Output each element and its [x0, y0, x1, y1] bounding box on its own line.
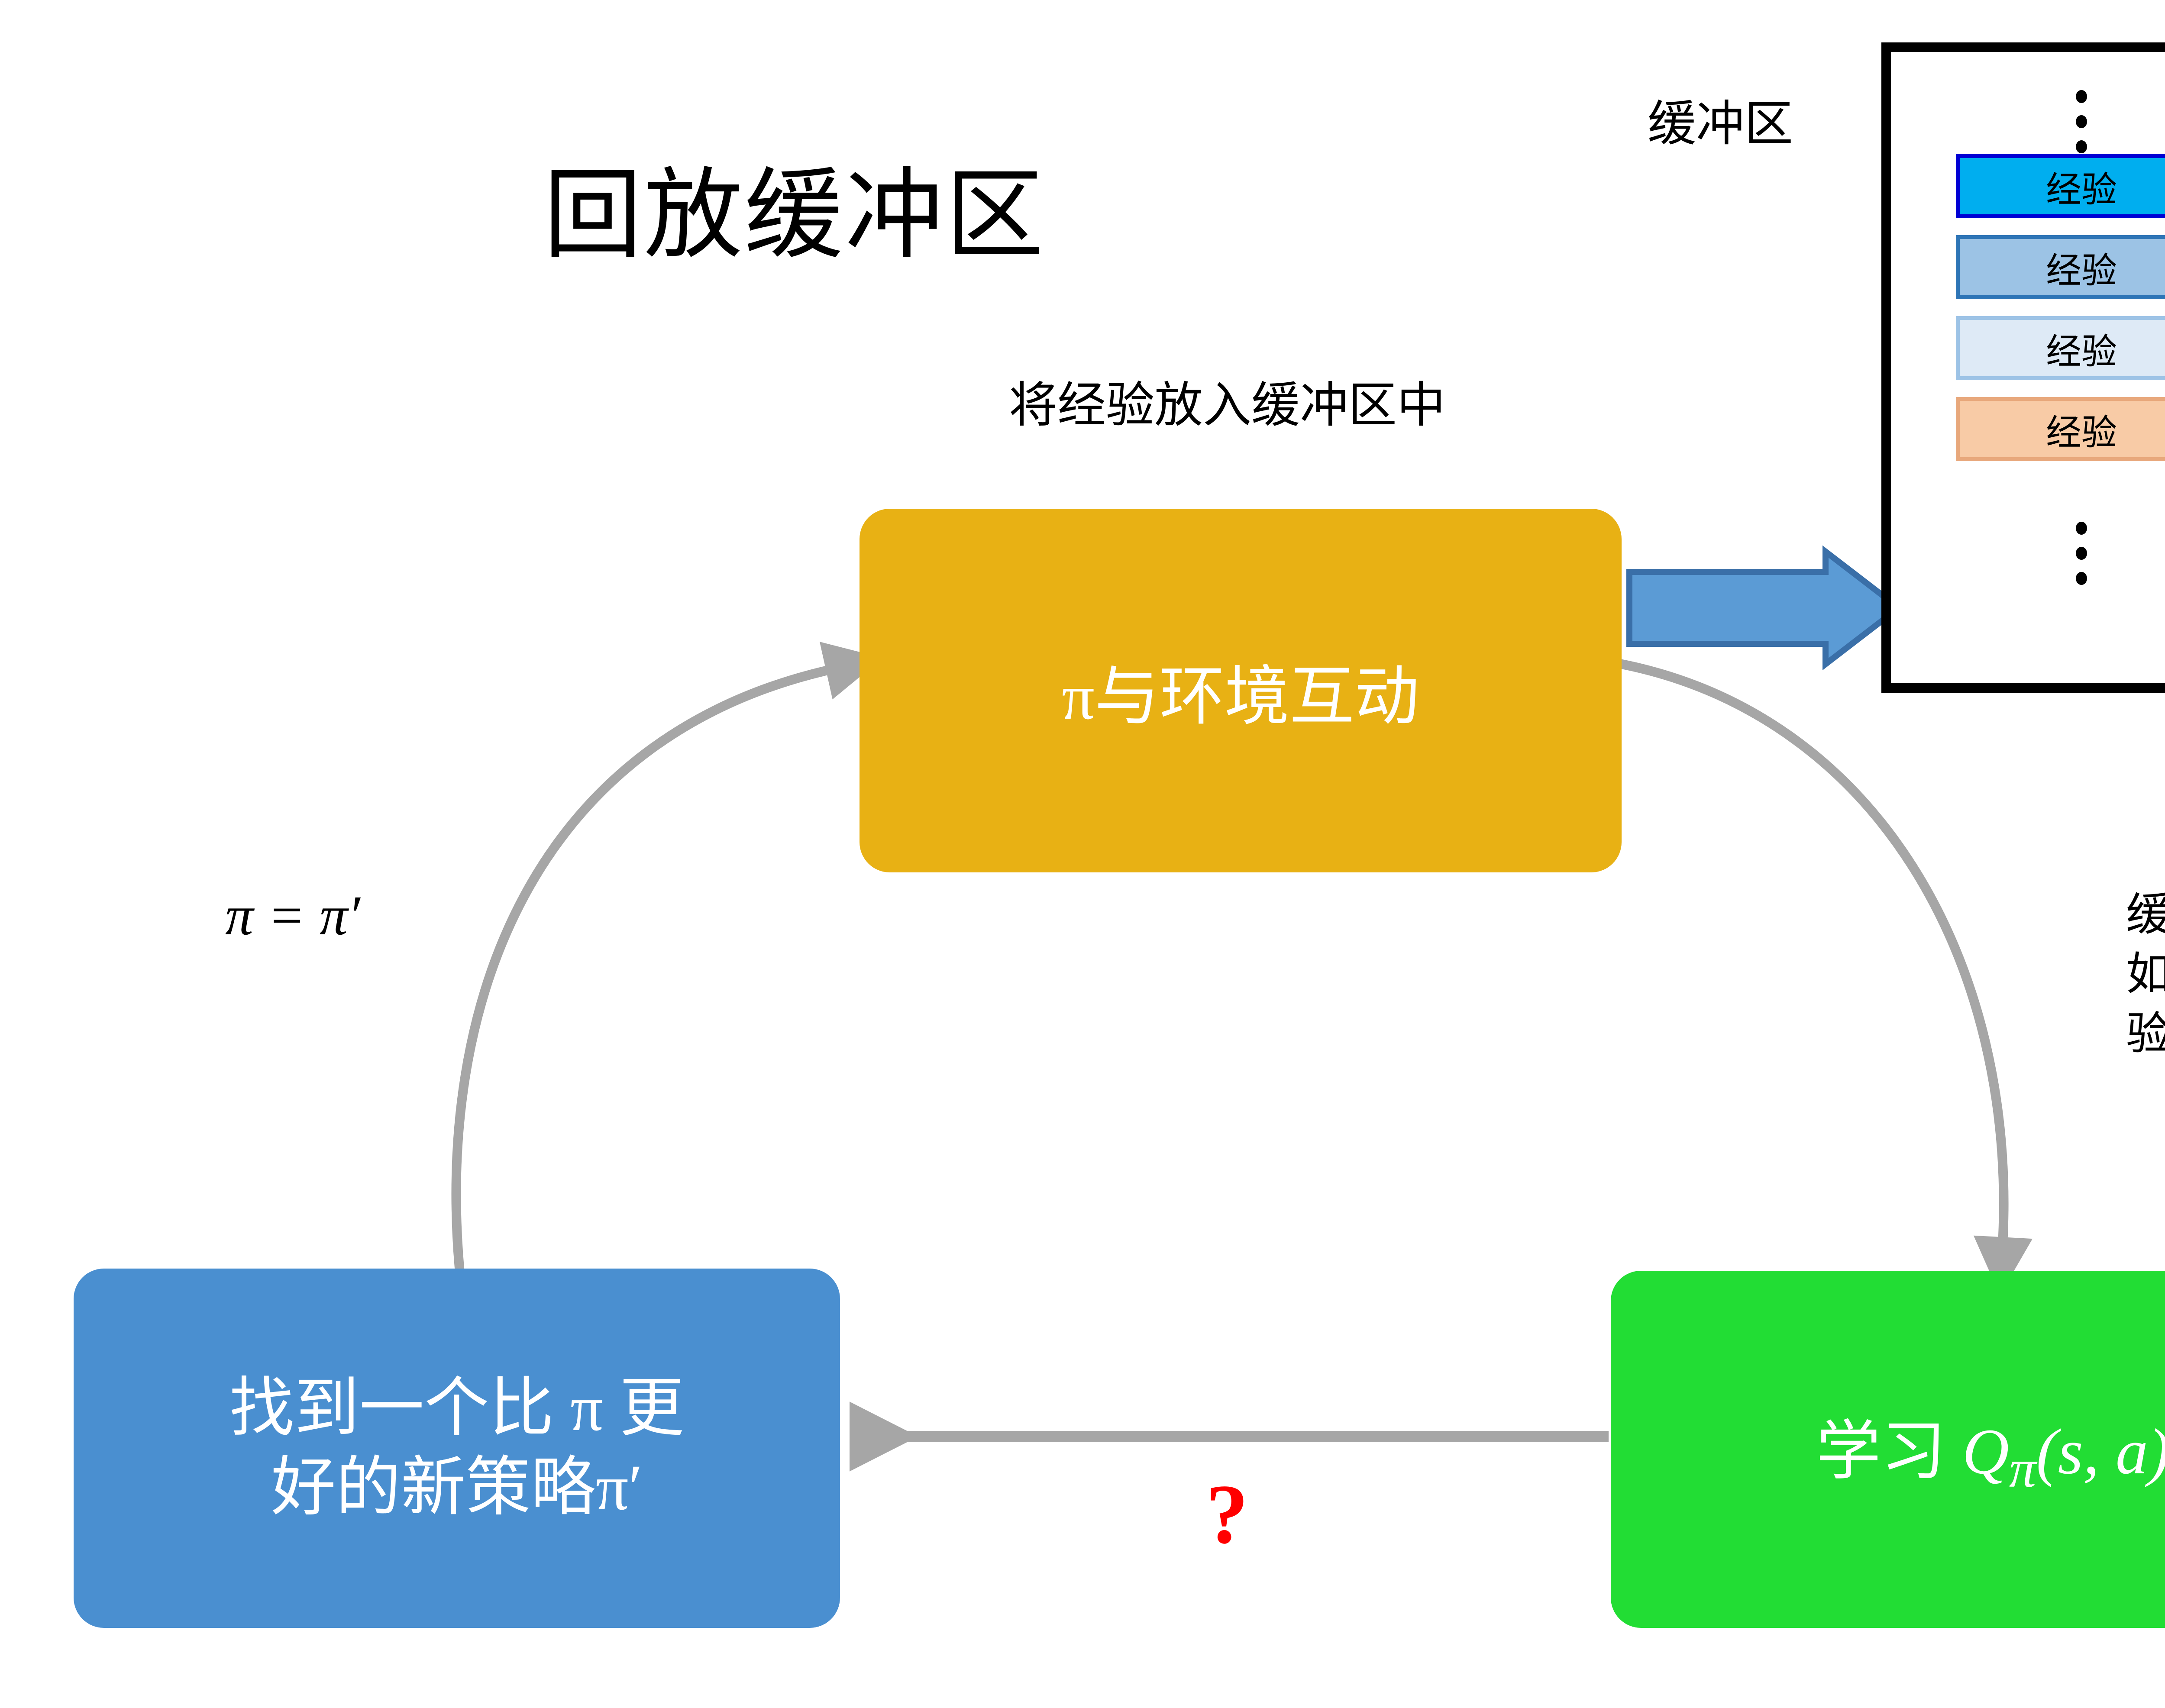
experience-item[interactable]: 经验 [1956, 316, 2165, 380]
experience-label: 经验 [2046, 161, 2117, 212]
experience-item[interactable]: 经验 [1956, 154, 2165, 218]
block-arrow-to-buffer [1629, 552, 1899, 664]
experience-label: 经验 [2046, 323, 2117, 374]
note-buffer-offpolicy: 缓冲区内的经验来自不同的策略。如果缓冲区已满，则放弃旧的经验。 [2126, 885, 2165, 1064]
equals-symbol: = [253, 885, 320, 947]
prime-symbol: ′ [348, 885, 360, 947]
experience-item[interactable]: 经验 [1956, 397, 2165, 461]
dot [2076, 522, 2087, 535]
node-improve-line1: 找到一个比 π 更 [229, 1372, 685, 1444]
node-learn-text: 学习 Qπ(s, a) [1816, 1398, 2165, 1500]
node-find-better-policy[interactable]: 找到一个比 π 更 好的新策略π′ [74, 1269, 840, 1628]
node-learn-q-function[interactable]: 学习 Qπ(s, a) [1611, 1271, 2165, 1628]
node-interact-with-environment[interactable]: π与环境互动 [860, 509, 1622, 872]
pi-symbol-lhs: π [225, 885, 253, 947]
node-interact-label: π与环境互动 [1062, 644, 1419, 738]
pi-symbol-rhs: π [320, 885, 348, 947]
question-mark-annotation: ? [1206, 1472, 1248, 1557]
experience-label: 经验 [2046, 242, 2117, 293]
caption-put-experience: 将经验放入缓冲区中 [1009, 366, 1445, 436]
experience-label: 经验 [2046, 404, 2117, 455]
dot [2076, 140, 2087, 153]
q-symbol: Q [1962, 1416, 2009, 1488]
page-title: 回放缓冲区 [543, 167, 1046, 265]
dot [2076, 572, 2087, 585]
dot [2076, 90, 2087, 103]
caption-buffer-label: 缓冲区 [1648, 84, 1793, 155]
replay-buffer-container: 经验 经验 经验 经验 [1881, 42, 2165, 693]
diagram-canvas: 回放缓冲区 将经验放入缓冲区中 缓冲区 缓冲区内的经验来自不同的策略。如果缓冲区… [0, 0, 2165, 1708]
q-arguments: (s, a) [2036, 1416, 2165, 1488]
q-subscript-pi: π [2009, 1439, 2036, 1499]
experience-item[interactable]: 经验 [1956, 235, 2165, 299]
vertical-ellipsis-top-icon [2073, 90, 2090, 153]
curved-arrow-improve-to-interact [456, 669, 834, 1273]
node-learn-prefix: 学习 [1816, 1416, 1962, 1488]
dot [2076, 115, 2087, 128]
vertical-ellipsis-bottom-icon [2073, 522, 2090, 585]
label-policy-equality: π = π′ [225, 883, 360, 948]
curved-arrow-interact-to-learn [1613, 662, 2004, 1245]
dot [2076, 547, 2087, 560]
node-improve-line2: 好的新策略π′ [271, 1452, 643, 1524]
node-improve-text: 找到一个比 π 更 好的新策略π′ [229, 1369, 685, 1527]
